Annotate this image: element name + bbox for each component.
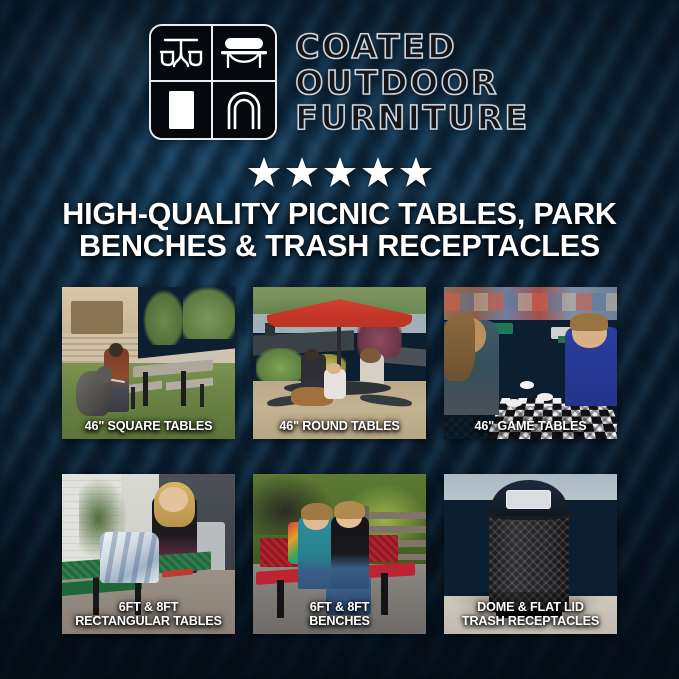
- product-caption: 6FT & 8FT BENCHES: [253, 600, 426, 628]
- caption-line-1: 46" GAME TABLES: [447, 419, 614, 433]
- trash-receptacle-icon: [151, 82, 213, 138]
- star-icon: [400, 157, 432, 188]
- wordmark-line-1: COATED: [295, 30, 529, 65]
- caption-line-2: BENCHES: [256, 614, 423, 628]
- product-card-trash-receptacles[interactable]: DOME & FLAT LID TRASH RECEPTACLES: [444, 474, 617, 634]
- brand-wordmark: COATED OUTDOOR FURNITURE: [295, 28, 529, 136]
- product-caption: 46" SQUARE TABLES: [62, 419, 235, 433]
- wordmark-line-2: OUTDOOR: [295, 66, 529, 101]
- product-card-grid: 46" SQUARE TABLES: [62, 287, 618, 634]
- product-caption: 6FT & 8FT RECTANGULAR TABLES: [62, 600, 235, 628]
- caption-line-1: DOME & FLAT LID: [447, 600, 614, 614]
- bench-table-icon: [213, 26, 275, 82]
- page-title: HIGH-QUALITY PICNIC TABLES, PARK BENCHES…: [0, 198, 679, 262]
- product-card-rectangular-tables[interactable]: 6FT & 8FT RECTANGULAR TABLES: [62, 474, 235, 634]
- logo-icon-grid: [149, 24, 277, 140]
- promo-banner: COATED OUTDOOR FURNITURE HIGH-QUALITY PI…: [0, 0, 679, 679]
- product-card-benches[interactable]: 6FT & 8FT BENCHES: [253, 474, 426, 634]
- wordmark-line-3: FURNITURE: [295, 101, 529, 136]
- star-icon: [248, 157, 280, 188]
- product-photo-square-tables: [62, 287, 235, 439]
- caption-line-1: 46" ROUND TABLES: [256, 419, 423, 433]
- banner-content: COATED OUTDOOR FURNITURE HIGH-QUALITY PI…: [0, 0, 679, 679]
- star-icon: [324, 157, 356, 188]
- caption-line-2: TRASH RECEPTACLES: [447, 614, 614, 628]
- product-card-round-tables[interactable]: 46" ROUND TABLES: [253, 287, 426, 439]
- product-caption: DOME & FLAT LID TRASH RECEPTACLES: [444, 600, 617, 628]
- arch-bike-rack-icon: [213, 82, 275, 138]
- star-icon: [286, 157, 318, 188]
- star-rating: [0, 157, 679, 188]
- caption-line-1: 46" SQUARE TABLES: [65, 419, 232, 433]
- product-card-game-tables[interactable]: 46" GAME TABLES: [444, 287, 617, 439]
- headline-line-2: BENCHES & TRASH RECEPTACLES: [26, 230, 653, 262]
- product-card-square-tables[interactable]: 46" SQUARE TABLES: [62, 287, 235, 439]
- brand-logo: COATED OUTDOOR FURNITURE: [0, 24, 679, 140]
- caption-line-1: 6FT & 8FT: [256, 600, 423, 614]
- picnic-table-icon: [151, 26, 213, 82]
- product-caption: 46" GAME TABLES: [444, 419, 617, 433]
- headline-line-1: HIGH-QUALITY PICNIC TABLES, PARK: [62, 197, 616, 231]
- product-caption: 46" ROUND TABLES: [253, 419, 426, 433]
- star-icon: [362, 157, 394, 188]
- caption-line-2: RECTANGULAR TABLES: [65, 614, 232, 628]
- product-photo-round-tables: [253, 287, 426, 439]
- caption-line-1: 6FT & 8FT: [65, 600, 232, 614]
- product-photo-game-tables: [444, 287, 617, 439]
